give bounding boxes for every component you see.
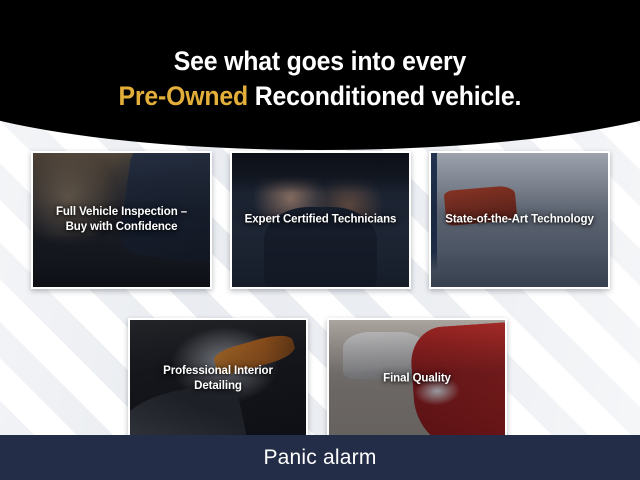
feature-card-caption: Final Quality	[335, 371, 499, 386]
bottom-banner-label: Panic alarm	[263, 446, 376, 470]
feature-card-state-of-the-art-technology[interactable]: State-of-the-Art Technology	[429, 151, 610, 289]
caption-line-2: Detailing	[136, 379, 300, 394]
headline-line-1: See what goes into every	[174, 44, 466, 79]
feature-card-final-quality[interactable]: Final Quality	[327, 318, 507, 440]
caption-line-1: Professional Interior	[136, 364, 300, 379]
feature-card-full-vehicle-inspection[interactable]: Full Vehicle Inspection – Buy with Confi…	[31, 151, 212, 289]
caption-line-1: Final Quality	[335, 371, 499, 386]
caption-line-1: Full Vehicle Inspection –	[39, 205, 204, 220]
header-banner: See what goes into every Pre-Owned Recon…	[0, 0, 640, 150]
caption-line-2: Buy with Confidence	[39, 220, 204, 235]
feature-card-caption: State-of-the-Art Technology	[437, 212, 602, 227]
headline-line-2-rest: Reconditioned vehicle.	[248, 81, 521, 111]
feature-card-professional-interior-detailing[interactable]: Professional Interior Detailing	[128, 318, 308, 440]
bottom-banner: Panic alarm	[0, 435, 640, 480]
reconditioning-infographic-slide: See what goes into every Pre-Owned Recon…	[0, 0, 640, 480]
feature-card-caption: Full Vehicle Inspection – Buy with Confi…	[39, 205, 204, 235]
caption-line-1: State-of-the-Art Technology	[437, 212, 602, 227]
headline-accent-pre-owned: Pre-Owned	[119, 81, 248, 111]
headline-line-2: Pre-Owned Reconditioned vehicle.	[119, 79, 522, 114]
header-content: See what goes into every Pre-Owned Recon…	[0, 0, 640, 150]
feature-card-caption: Professional Interior Detailing	[136, 364, 300, 394]
caption-line-1: Expert Certified Technicians	[238, 212, 403, 227]
feature-card-caption: Expert Certified Technicians	[238, 212, 403, 227]
feature-card-expert-certified-technicians[interactable]: Expert Certified Technicians	[230, 151, 411, 289]
